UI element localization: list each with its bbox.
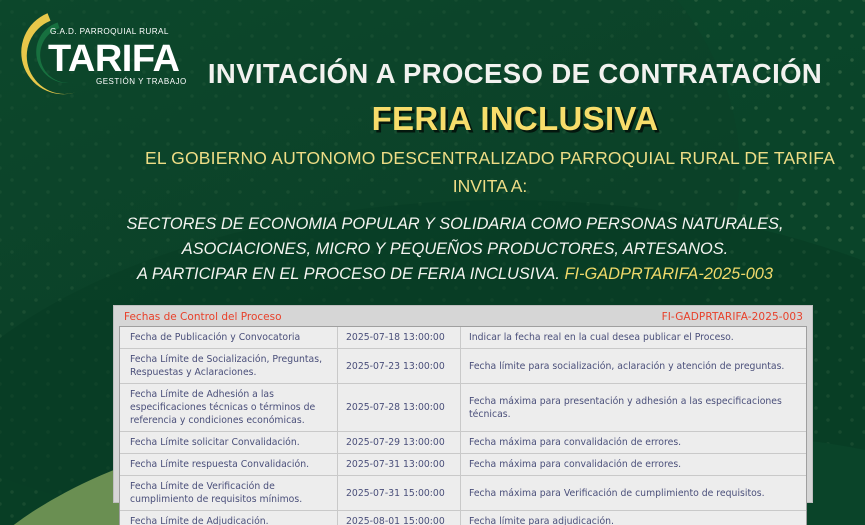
table-row: Fecha Límite de Verificación de cumplimi… (120, 476, 806, 511)
table-row: Fecha Límite respuesta Convalidación. 20… (120, 454, 806, 476)
row-description: Fecha límite para adjudicación. (460, 511, 806, 525)
process-dates-table: Fecha de Publicación y Convocatoria 2025… (119, 326, 807, 525)
logo-name-text: TARIFA (48, 38, 179, 80)
row-name: Fecha Límite de Verificación de cumplimi… (120, 476, 338, 510)
body-text-block: SECTORES DE ECONOMIA POPULAR Y SOLIDARIA… (90, 212, 820, 287)
table-row: Fecha Límite de Socialización, Preguntas… (120, 349, 806, 384)
body-line-3-wrapper: A PARTICIPAR EN EL PROCESO DE FERIA INCL… (90, 262, 820, 287)
row-date: 2025-07-29 13:00:00 (338, 432, 460, 453)
row-description: Indicar la fecha real en la cual desea p… (460, 327, 806, 348)
row-description: Fecha máxima para Verificación de cumpli… (460, 476, 806, 510)
row-date: 2025-07-31 13:00:00 (338, 454, 460, 475)
invitation-poster: G.A.D. PARROQUIAL RURAL TARIFA GESTIÓN Y… (0, 0, 865, 525)
row-name: Fecha Límite de Socialización, Preguntas… (120, 349, 338, 383)
process-dates-card-header: Fechas de Control del Proceso FI-GADPRTA… (119, 310, 807, 326)
row-date: 2025-08-01 15:00:00 (338, 511, 460, 525)
invites-line: INVITA A: (130, 176, 850, 197)
row-description: Fecha máxima para convalidación de error… (460, 432, 806, 453)
row-date: 2025-07-23 13:00:00 (338, 349, 460, 383)
process-dates-card: Fechas de Control del Proceso FI-GADPRTA… (113, 305, 813, 503)
table-row: Fecha Límite solicitar Convalidación. 20… (120, 432, 806, 454)
row-name: Fecha de Publicación y Convocatoria (120, 327, 338, 348)
row-description: Fecha máxima para presentación y adhesió… (460, 384, 806, 431)
body-line-1: SECTORES DE ECONOMIA POPULAR Y SOLIDARIA… (90, 212, 820, 237)
page-subtitle: FERIA INCLUSIVA (180, 100, 850, 138)
row-name: Fecha Límite solicitar Convalidación. (120, 432, 338, 453)
row-name: Fecha Límite de Adjudicación. (120, 511, 338, 525)
row-description: Fecha máxima para convalidación de error… (460, 454, 806, 475)
entity-line: EL GOBIERNO AUTONOMO DESCENTRALIZADO PAR… (130, 148, 850, 169)
page-title: INVITACIÓN A PROCESO DE CONTRATACIÓN (180, 58, 850, 90)
row-date: 2025-07-18 13:00:00 (338, 327, 460, 348)
logo-top-text: G.A.D. PARROQUIAL RURAL (50, 27, 169, 36)
process-code-inline: FI-GADPRTARIFA-2025-003 (564, 265, 773, 283)
process-dates-title: Fechas de Control del Proceso (124, 311, 282, 323)
table-row: Fecha Límite de Adjudicación. 2025-08-01… (120, 511, 806, 525)
body-line-2: ASOCIACIONES, MICRO Y PEQUEÑOS PRODUCTOR… (90, 237, 820, 262)
row-date: 2025-07-31 15:00:00 (338, 476, 460, 510)
table-row: Fecha de Publicación y Convocatoria 2025… (120, 327, 806, 349)
table-row: Fecha Límite de Adhesión a las especific… (120, 384, 806, 432)
row-description: Fecha límite para socialización, aclarac… (460, 349, 806, 383)
row-name: Fecha Límite de Adhesión a las especific… (120, 384, 338, 431)
body-line-3: A PARTICIPAR EN EL PROCESO DE FERIA INCL… (137, 265, 560, 283)
row-date: 2025-07-28 13:00:00 (338, 384, 460, 431)
row-name: Fecha Límite respuesta Convalidación. (120, 454, 338, 475)
process-code-header: FI-GADPRTARIFA-2025-003 (662, 311, 803, 323)
tarifa-logo: G.A.D. PARROQUIAL RURAL TARIFA GESTIÓN Y… (6, 8, 196, 104)
logo-tagline-text: GESTIÓN Y TRABAJO (96, 77, 187, 86)
